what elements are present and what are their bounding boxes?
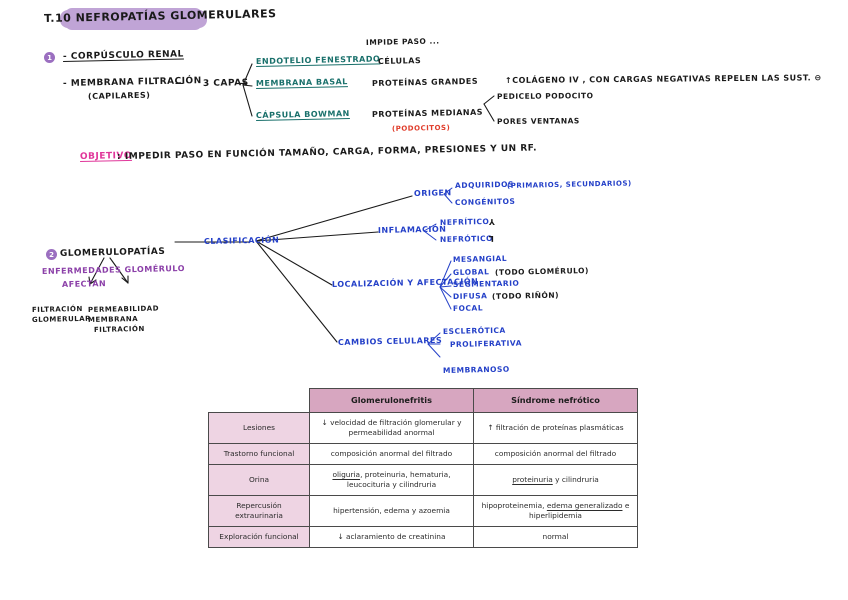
comparison-table-wrapper: Glomerulonefritis Síndrome nefrótico Les… [208,388,638,548]
cell-exploracion-sn: normal [474,526,638,547]
row-header-exploracion: Exploración funcional [209,526,310,547]
dash-connector-2: — [238,80,248,89]
repercusion-sn-underlined: edema generalizado [547,501,623,510]
enfermedades-glomerulo-line1: ENFERMEDADES GLOMÉRULO [42,265,185,276]
col-header-sindrome-nefrotico: Síndrome nefrótico [474,389,638,413]
branch-cambios-label: CAMBIOS CELULARES [338,337,442,348]
localizacion-segmentario: SEGMENTARIO [453,280,519,289]
notes-page: T.10 NEFROPATÍAS GLOMERULARES 1 - CORPÚS… [0,0,848,600]
table-header-row: Glomerulonefritis Síndrome nefrótico [209,389,638,413]
nefritico-mark: ⅄ [489,219,496,227]
objetivo-text: IMPEDIR PASO EN FUNCIÓN TAMAÑO, CARGA, F… [125,144,537,162]
objetivo-colon: : [117,153,121,163]
glomerulopatias-title: GLOMERULOPATÍAS [60,248,166,260]
cambios-esclerotica: ESCLERÓTICA [443,327,506,336]
section-2-number: 2 [46,249,57,260]
cell-orina-sn: proteinuria y cilindruria [474,465,638,496]
cell-trastorno-sn: composición anormal del filtrado [474,444,638,465]
localizacion-global: GLOBAL [453,268,490,277]
orina-sn-rest: y cilindruria [553,475,599,484]
inflamacion-nefritico: NEFRÍTICO [440,218,490,227]
row-header-orina: Orina [209,465,310,496]
cell-repercusion-gn: hipertensión, edema y azoemia [310,495,474,526]
layer-capsula-bowman: CÁPSULA BOWMAN [256,110,350,120]
membrana-filtracion-sub: (CAPILARES) [88,92,151,102]
cell-exploracion-gn: ↓ aclaramiento de creatinina [310,526,474,547]
pedicelo-podocito-label: PEDICELO PODOCITO [497,92,594,101]
dash-connector-1: — [175,80,185,89]
table-row: Lesiones ↓ velocidad de filtración glome… [209,413,638,444]
table-row: Repercusión extraurinaria hipertensión, … [209,495,638,526]
section-1-number: 1 [44,52,55,63]
afecta-membrana: MEMBRANA [88,316,138,324]
blocked-proteinas-medianas: PROTEÍNAS MEDIANAS [372,109,483,120]
cell-trastorno-gn: composición anormal del filtrado [310,444,474,465]
afecta-filtracion: FILTRACIÓN [32,306,83,314]
afecta-glomerular: GLOMERULAR [32,316,91,325]
blocked-proteinas-grandes: PROTEÍNAS GRANDES [372,78,478,89]
afecta-filtracion-2: FILTRACIÓN [94,326,145,334]
table-row: Orina oliguria, proteinuria, hematuria, … [209,465,638,496]
afecta-permeabilidad: PERMEABILIDAD [88,306,159,315]
localizacion-difusa-note: (TODO RIÑÓN) [492,292,559,301]
origen-adquiridos-note: (PRIMARIOS, SECUNDARIOS) [507,180,632,190]
col-header-glomerulonefritis: Glomerulonefritis [310,389,474,413]
page-title: T.10 NEFROPATÍAS GLOMERULARES [44,8,277,24]
origen-congenitos: CONGÉNITOS [455,198,516,207]
layer-endotelio-fenestrado: ENDOTELIO FENESTRADO [256,55,380,66]
nefrotico-mark: ⅂ [489,236,494,244]
layer-membrana-basal: MEMBRANA BASAL [256,78,348,88]
cambios-membranoso: MEMBRANOSO [443,366,510,375]
localizacion-focal: FOCAL [453,304,483,313]
branch-origen-label: ORIGEN [414,189,452,198]
cell-lesiones-gn: ↓ velocidad de filtración glomerular y p… [310,413,474,444]
cell-repercusion-sn: hipoproteinemia, edema generalizado e hi… [474,495,638,526]
localizacion-difusa: DIFUSA [453,292,488,301]
enfermedades-glomerulo-line2: AFECTAN [62,280,106,289]
podocitos-note: (PODOCITOS) [392,125,450,134]
table-row: Trastorno funcional composición anormal … [209,444,638,465]
impide-paso-header: IMPIDE PASO ... [366,37,440,46]
row-header-trastorno-funcional: Trastorno funcional [209,444,310,465]
cell-lesiones-sn: ↑ filtración de proteínas plasmáticas [474,413,638,444]
orina-sn-underlined: proteinuria [512,475,553,484]
orina-gn-rest: , proteinuria, hematuria, leucocituria y… [347,470,451,489]
colageno-note: ↑COLÁGENO IV , CON CARGAS NEGATIVAS REPE… [505,74,822,85]
pores-ventanas-label: PORES VENTANAS [497,117,580,126]
table-row: Exploración funcional ↓ aclaramiento de … [209,526,638,547]
cambios-proliferativa: PROLIFERATIVA [450,339,522,348]
row-header-lesiones: Lesiones [209,413,310,444]
row-header-repercusion: Repercusión extraurinaria [209,495,310,526]
branch-inflamacion-label: INFLAMACIÓN [378,226,447,236]
clasificacion-label: CLASIFICACIÓN [204,236,279,246]
cell-orina-gn: oliguria, proteinuria, hematuria, leucoc… [310,465,474,496]
inflamacion-nefrotico: NEFRÓTICO [440,235,493,244]
table-corner-cell [209,389,310,413]
repercusion-sn-pre: hipoproteinemia, [482,501,547,510]
localizacion-global-note: (TODO GLOMÉRULO) [495,267,589,277]
blocked-celulas: CÉLULAS [378,57,421,66]
localizacion-mesangial: MESANGIAL [453,255,507,264]
origen-adquiridos: ADQUIRIDOS [455,181,514,190]
comparison-table: Glomerulonefritis Síndrome nefrótico Les… [208,388,638,548]
orina-gn-underlined: oliguria [332,470,360,479]
corpusculo-renal-label: - CORPÚSCULO RENAL [63,50,184,62]
